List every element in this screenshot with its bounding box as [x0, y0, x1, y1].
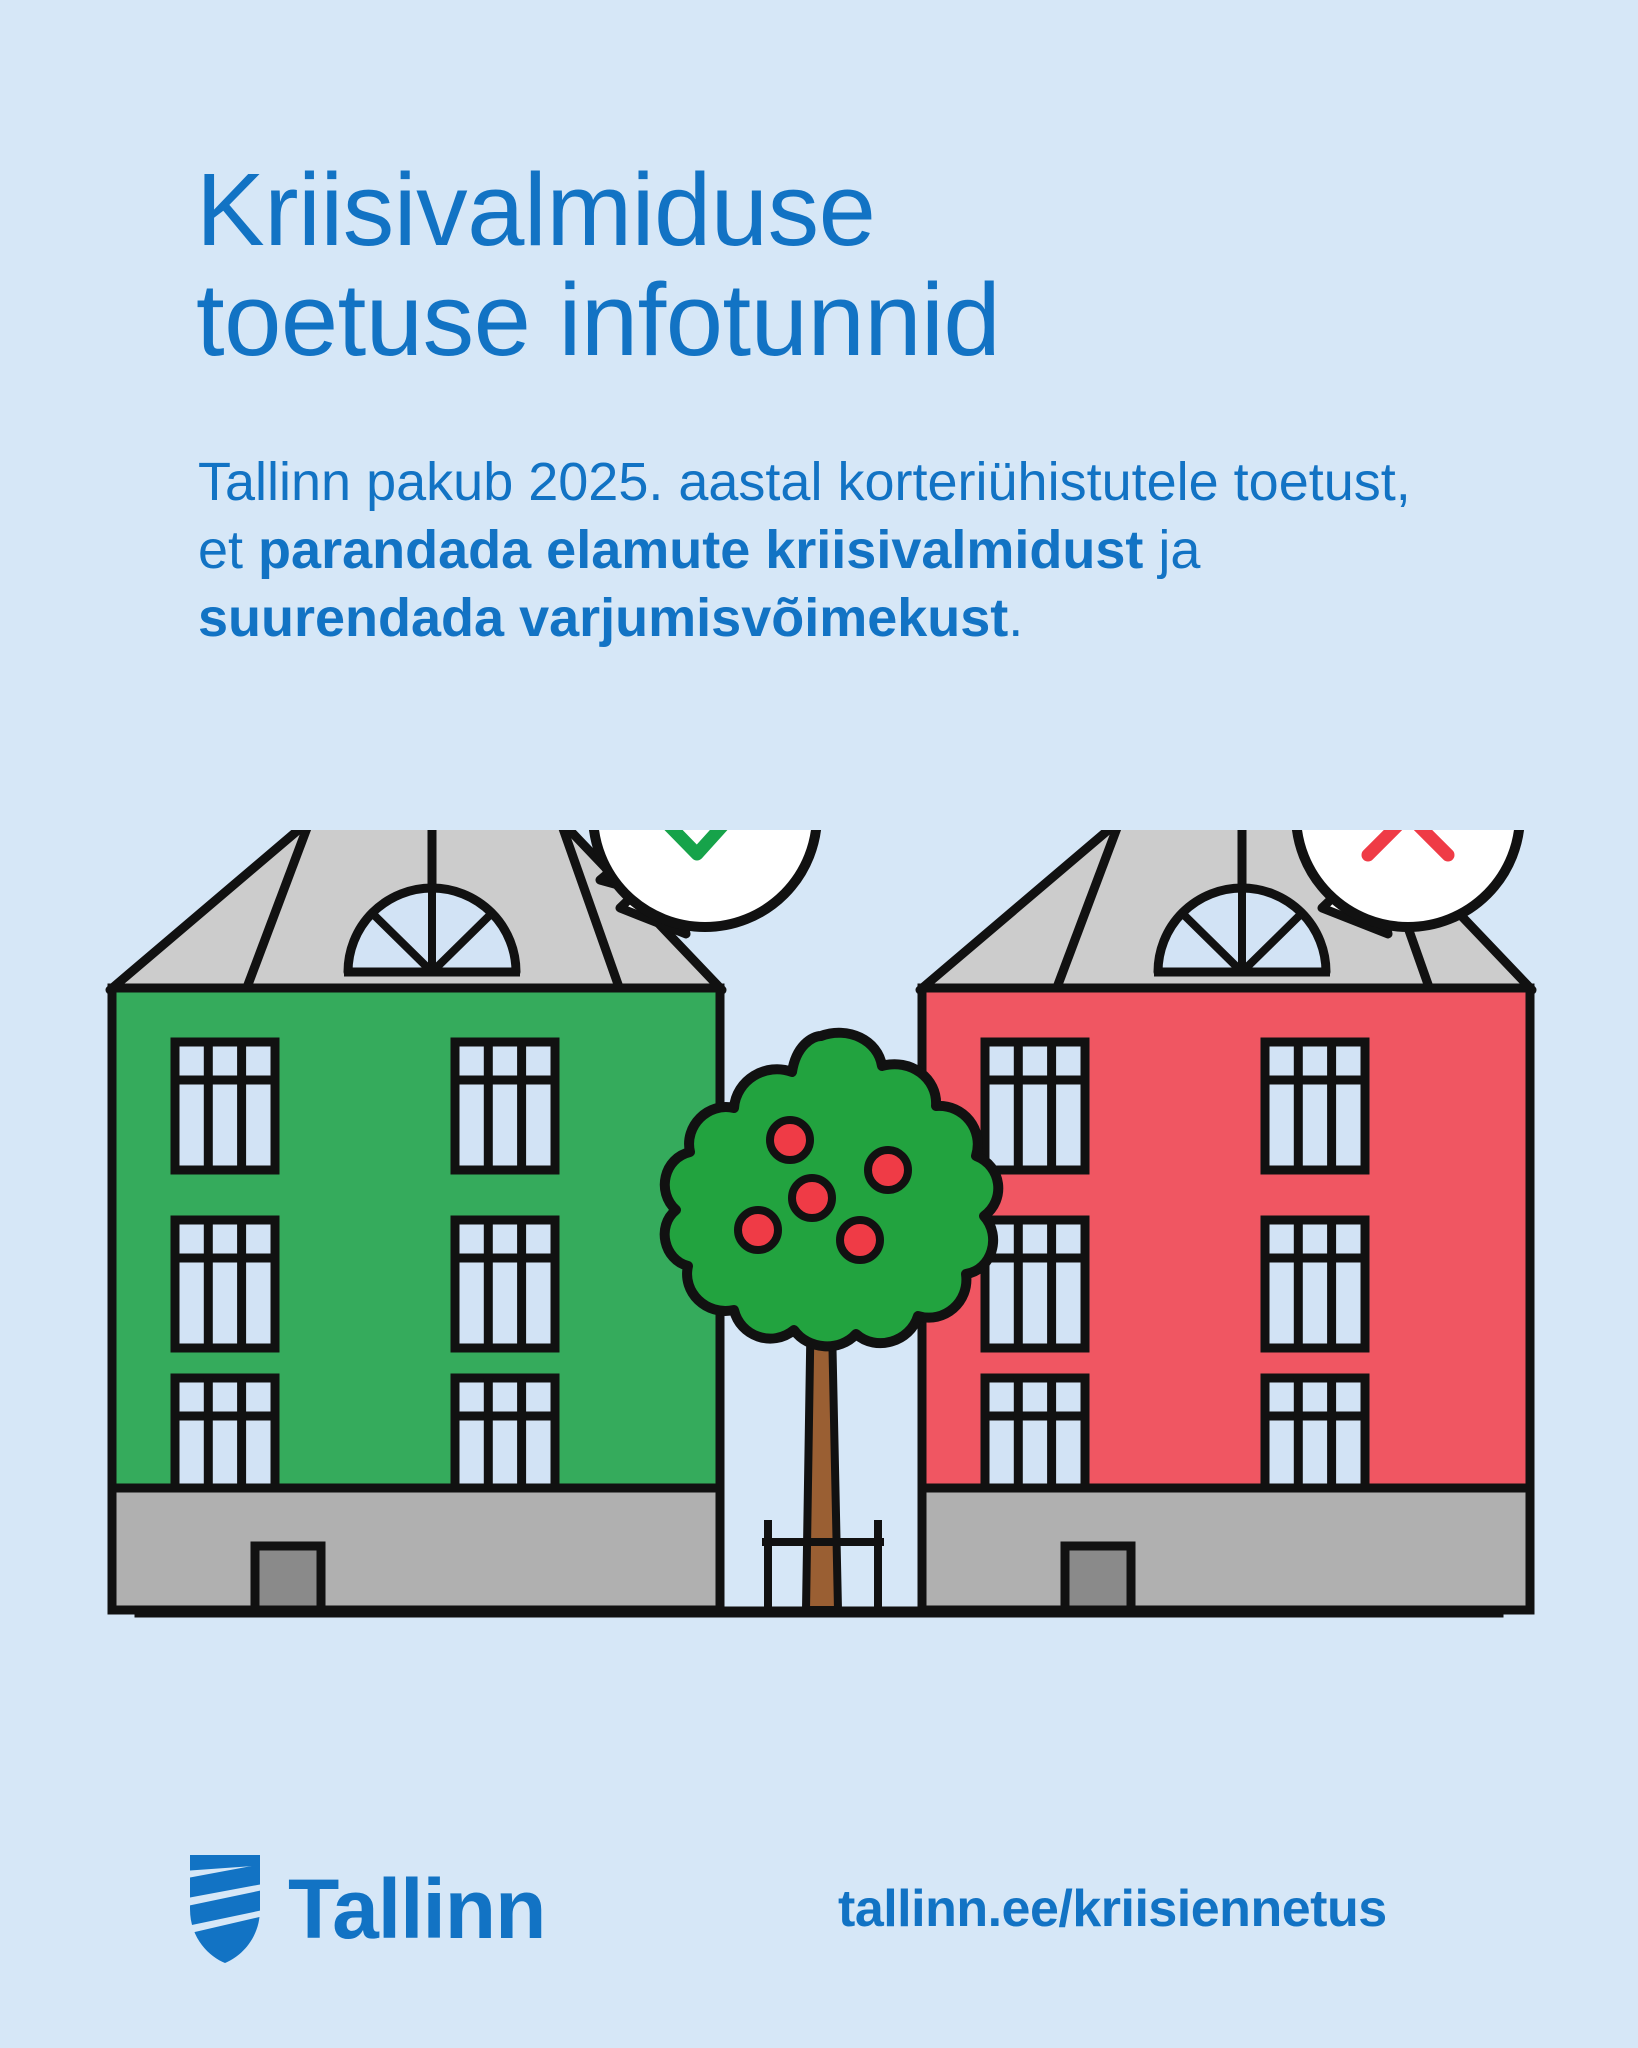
body-line-3-bold: elamute kriisivalmidust — [546, 520, 1143, 580]
poster-canvas: Kriisivalmiduse toetuse infotunnid Talli… — [0, 0, 1638, 2048]
red-building-base — [922, 1488, 1530, 1610]
body-line-2-bold: parandada — [258, 520, 531, 580]
footer-url[interactable]: tallinn.ee/kriisiennetus — [838, 1879, 1387, 1939]
footer: Tallinn tallinn.ee/kriisiennetus — [0, 1845, 1638, 2005]
tree-fruit — [770, 1120, 810, 1160]
tallinn-logo-text: Tallinn — [288, 1867, 545, 1951]
red-building-window — [985, 1220, 1085, 1348]
red-building-basement-window — [1065, 1546, 1131, 1610]
tree-fruit — [868, 1150, 908, 1190]
body-line-3-plain: ja — [1143, 520, 1200, 580]
green-building-window — [175, 1220, 275, 1348]
red-building-window — [1265, 1220, 1365, 1348]
green-building-base — [112, 1488, 720, 1610]
red-building-window — [985, 1042, 1085, 1170]
tree-fruit — [792, 1178, 832, 1218]
red-building — [920, 830, 1532, 1610]
green-building — [110, 830, 722, 1610]
tallinn-shield-icon — [188, 1853, 262, 1965]
tree-fruit — [840, 1220, 880, 1260]
green-building-basement-window — [255, 1546, 321, 1610]
green-building-window — [175, 1042, 275, 1170]
red-building-window — [1265, 1042, 1365, 1170]
body-line-1: Tallinn pakub 2025. aastal — [198, 452, 822, 512]
body-line-4-bold: suurendada varjumisvõimekust — [198, 588, 1008, 648]
body-copy: Tallinn pakub 2025. aastal korteriühistu… — [198, 448, 1458, 652]
page-title: Kriisivalmiduse toetuse infotunnid — [196, 155, 1436, 375]
buildings-illustration — [0, 830, 1638, 1770]
body-line-4-plain: . — [1008, 588, 1023, 648]
tree-fruit — [738, 1210, 778, 1250]
green-building-window — [455, 1220, 555, 1348]
green-building-window — [455, 1042, 555, 1170]
tallinn-logo[interactable]: Tallinn — [188, 1853, 545, 1965]
